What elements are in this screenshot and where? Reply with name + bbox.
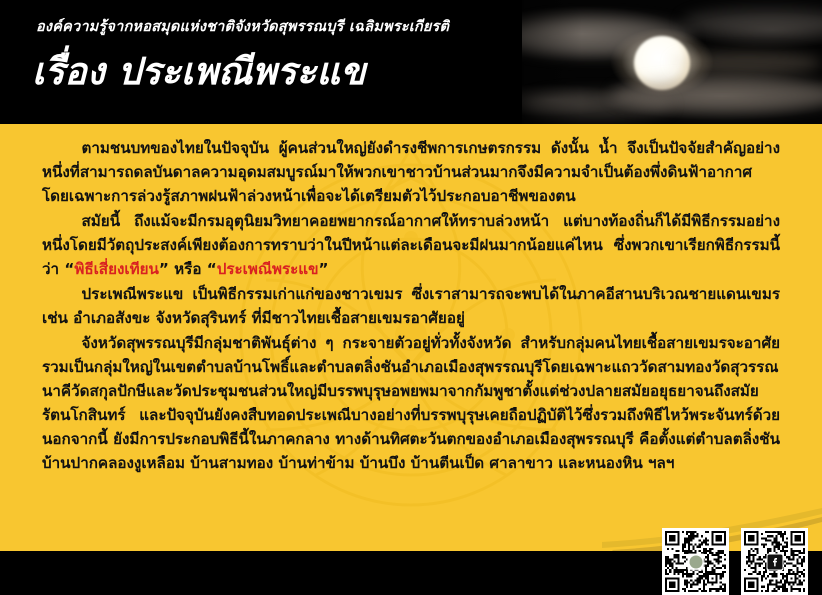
qr-code-facebook[interactable] [741, 528, 808, 595]
highlighted-term: ประเพณีพระแข [217, 260, 319, 278]
page-title: เรื่อง ประเพณีพระแข [32, 50, 592, 94]
poster-header: องค์ความรู้จากหอสมุดแห่งชาติจังหวัดสุพรร… [0, 0, 822, 124]
header-kicker: องค์ความรู้จากหอสมุดแห่งชาติจังหวัดสุพรร… [36, 18, 556, 36]
qr-code-website[interactable] [662, 528, 729, 595]
paragraph: สมัยนี้ ถึงแม้จะมีกรมอุตุนิยมวิทยาคอยพยา… [42, 209, 780, 281]
paragraph: จังหวัดสุพรรณบุรีมีกลุ่มชาติพันธุ์ต่าง ๆ… [42, 331, 780, 475]
poster-body: ตามชนบทของไทยในปัจจุบัน ผู้คนส่วนใหญ่ยัง… [0, 124, 822, 551]
poster-root: องค์ความรู้จากหอสมุดแห่งชาติจังหวัดสุพรร… [0, 0, 822, 595]
paragraph: ประเพณีพระแข เป็นพิธีกรรมเก่าแก่ของชาวเข… [42, 282, 780, 330]
highlighted-term: พิธีเสี่ยงเทียน [74, 260, 159, 278]
cloud-shape [672, 52, 822, 74]
paragraph: ตามชนบทของไทยในปัจจุบัน ผู้คนส่วนใหญ่ยัง… [42, 136, 780, 208]
cloud-shape [682, 8, 822, 36]
article-body: ตามชนบทของไทยในปัจจุบัน ผู้คนส่วนใหญ่ยัง… [0, 124, 822, 475]
seal-logo-icon [687, 553, 704, 570]
facebook-logo-icon [766, 553, 783, 570]
qr-code-group [662, 528, 808, 595]
